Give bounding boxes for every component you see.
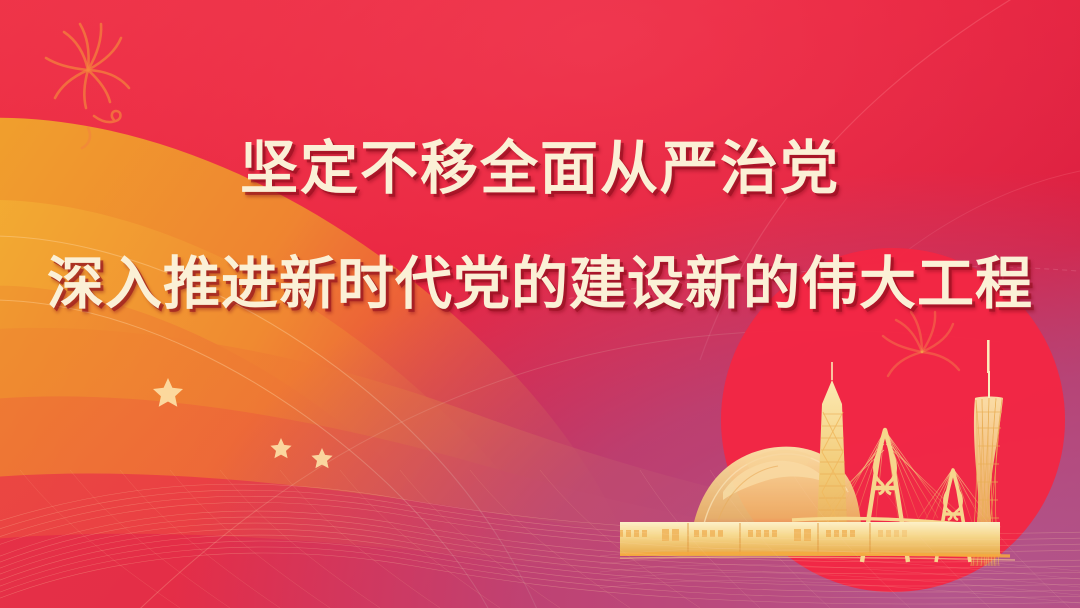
poster-canvas: 坚定不移全面从严治党 深入推进新时代党的建设新的伟大工程 — [0, 0, 1080, 608]
train-body — [548, 522, 1000, 556]
skyline-layer — [0, 0, 1080, 608]
mesh-wave-cross — [20, 470, 700, 608]
